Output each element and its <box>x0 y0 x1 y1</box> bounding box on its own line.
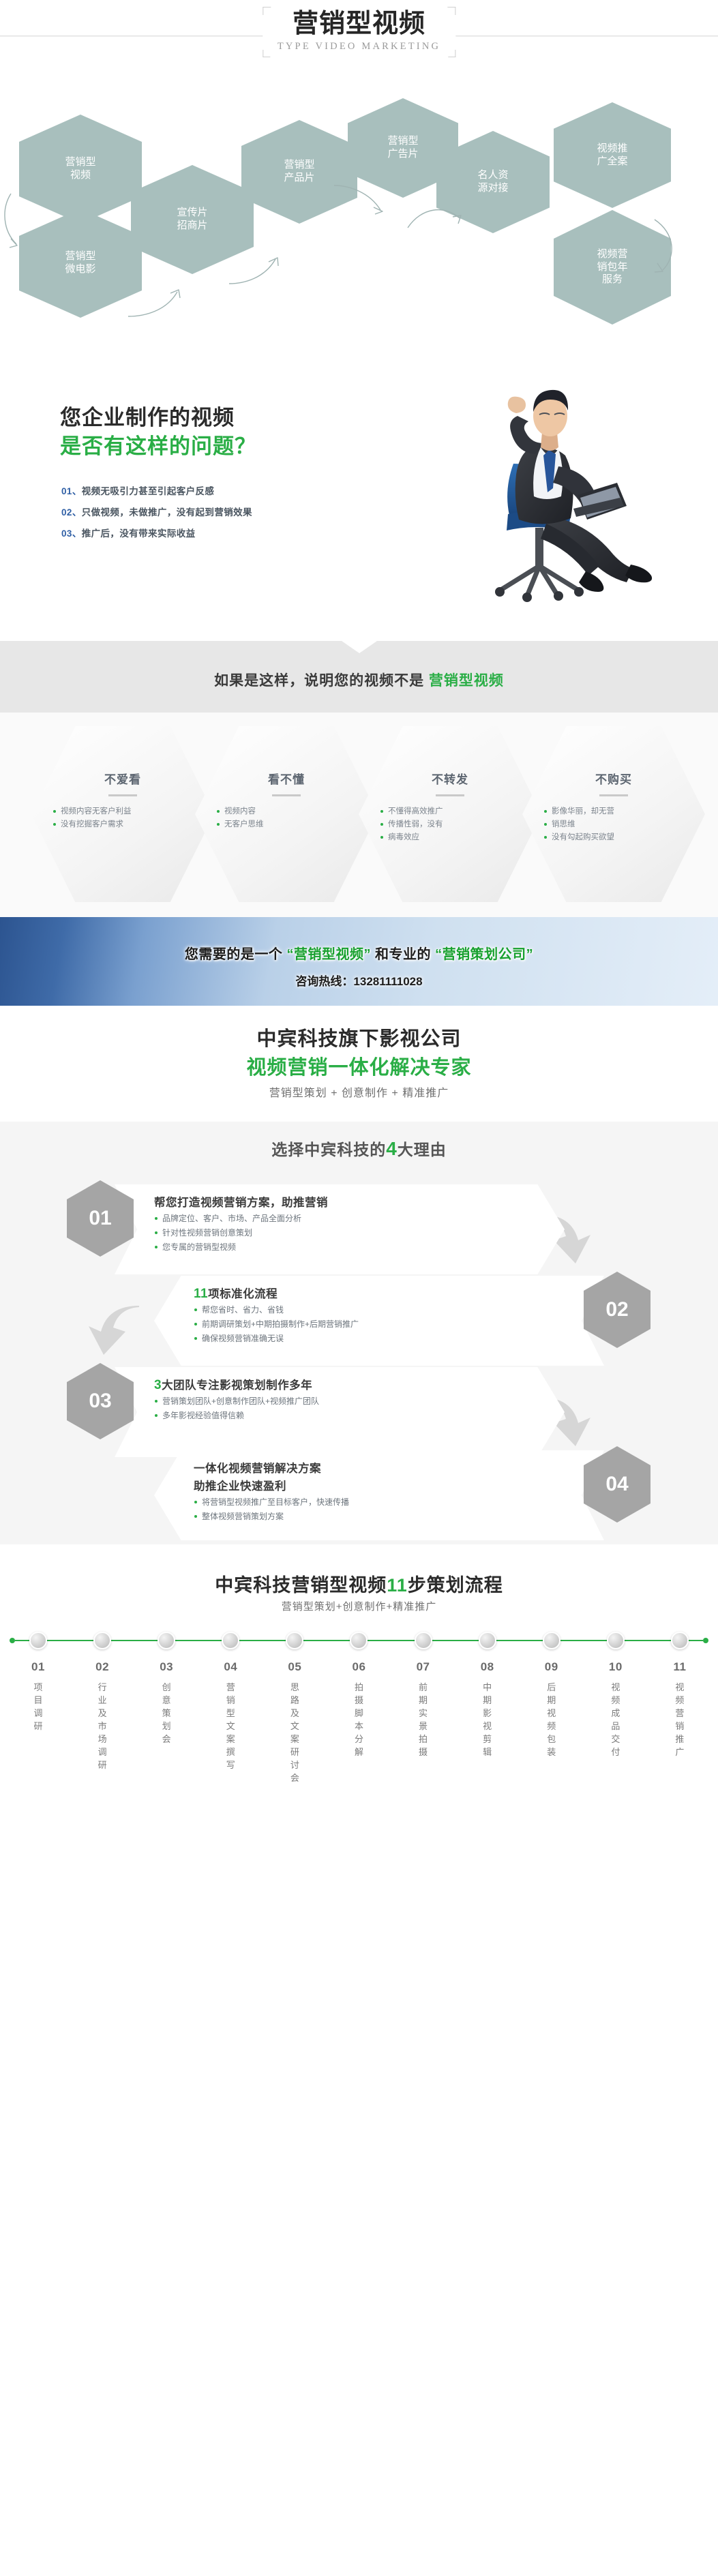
reason-title-03: 3大团队专注影视策划制作多年 <box>154 1377 524 1394</box>
step-label: 视频成品交付 <box>610 1681 620 1758</box>
step-item[interactable]: 03 创意策划会 <box>140 1632 192 1784</box>
problem-card-2[interactable]: 不转发 不懂得高效推广 传播性弱，没有 病毒效应 <box>359 726 541 902</box>
service-hex-label: 营销型 广告片 <box>387 135 418 161</box>
reasons-heading-highlight: 4 <box>386 1138 398 1159</box>
step-number: 04 <box>205 1660 256 1674</box>
reasons-heading: 选择中宾科技的4大理由 <box>0 1137 718 1160</box>
service-hex-label: 视频推 广全案 <box>597 143 627 168</box>
problem-item-number: 02、 <box>61 507 82 518</box>
problem-card-point-cont: 销思维 <box>543 818 685 831</box>
step-number: 11 <box>654 1660 706 1674</box>
reason-flow-arrow-2 <box>86 1304 140 1361</box>
cta-highlight-2: “营销策划公司” <box>435 947 533 962</box>
service-hex-label: 名人资 源对接 <box>477 169 508 195</box>
connector-arrow-5 <box>406 203 465 232</box>
intro-line-2: 视频营销一体化解决专家 <box>0 1053 718 1082</box>
cta-banner: 您需要的是一个 “营销型视频” 和专业的 “营销策划公司” 咨询热线：13281… <box>0 917 718 1006</box>
problem-card-point: 影像华丽，却无营 <box>543 805 685 818</box>
problem-list-item: 02、只做视频，未做推广，没有起到营销效果 <box>61 502 252 523</box>
callout-text-highlight: 营销型视频 <box>429 673 504 689</box>
step-number: 10 <box>590 1660 642 1674</box>
step-label: 拍摄脚本分解 <box>354 1681 364 1758</box>
callout-bar: 如果是这样，说明您的视频不是 营销型视频 <box>0 641 718 713</box>
problem-card-point: 没有勾起购买欲望 <box>543 831 685 844</box>
problem-heading: 您企业制作的视频 是否有这样的问题？ <box>60 404 256 461</box>
problem-card-title: 不购买 <box>595 770 632 787</box>
step-number: 01 <box>12 1660 64 1674</box>
steps-heading-before: 中宾科技营销型视频 <box>215 1575 387 1596</box>
step-dot-icon <box>158 1632 175 1649</box>
step-item[interactable]: 02 行业及市场调研 <box>76 1632 128 1784</box>
problem-heading-line1: 您企业制作的视频 <box>60 404 256 432</box>
problem-card-divider <box>436 794 464 796</box>
problem-card-1[interactable]: 看不懂 视频内容 无客户思维 <box>195 726 378 902</box>
step-dot-icon <box>543 1632 560 1649</box>
callout-notch <box>342 641 377 653</box>
step-number: 07 <box>398 1660 449 1674</box>
step-label: 中期影视剪辑 <box>482 1681 492 1758</box>
reason-point: 多年影视经验值得信赖 <box>154 1409 524 1423</box>
steps-heading-highlight: 11 <box>387 1575 408 1596</box>
service-hex-0[interactable]: 营销型 视频 <box>19 115 142 224</box>
problem-list-item: 01、视频无吸引力甚至引起客户反感 <box>61 481 252 502</box>
cta-part2: 和专业的 <box>371 947 435 962</box>
step-label: 行业及市场调研 <box>98 1681 108 1771</box>
intro-line-1: 中宾科技旗下影视公司 <box>0 1025 718 1053</box>
steps-heading-after: 步策划流程 <box>408 1575 503 1596</box>
callout-text: 如果是这样，说明您的视频不是 营销型视频 <box>0 670 718 690</box>
problem-item-number: 01、 <box>61 486 82 496</box>
step-item[interactable]: 06 拍摄脚本分解 <box>333 1632 385 1784</box>
step-number: 09 <box>526 1660 578 1674</box>
reason-point: 针对性视频营销创意策划 <box>154 1226 524 1240</box>
problem-list: 01、视频无吸引力甚至引起客户反感 02、只做视频，未做推广，没有起到营销效果 … <box>61 481 252 544</box>
connector-arrow-3 <box>228 256 285 286</box>
step-label: 创意策划会 <box>162 1681 172 1746</box>
reason-point: 营销策划团队+创意制作团队+视频推广团队 <box>154 1394 524 1409</box>
reasons-section: 选择中宾科技的4大理由 01 帮您打造视频营销方案，助推营销 品牌定位、客户、市… <box>0 1122 718 1544</box>
problem-card-title: 不转发 <box>432 770 468 787</box>
step-number: 02 <box>76 1660 128 1674</box>
problem-card-point: 传播性弱，没有 <box>379 818 521 831</box>
problem-card-divider <box>272 794 301 796</box>
reason-row-04: 04 一体化视频营销解决方案 助推企业快速盈利 将营销型视频推广至目标客户，快速… <box>0 1441 718 1542</box>
step-label: 营销型文案撰写 <box>226 1681 236 1771</box>
step-label: 后期视频包装 <box>546 1681 556 1758</box>
step-number: 08 <box>462 1660 513 1674</box>
problem-item-text: 视频无吸引力甚至引起客户反感 <box>82 486 215 496</box>
step-dot-icon <box>479 1632 496 1649</box>
page-subtitle: TYPE VIDEO MARKETING <box>278 40 440 53</box>
problem-card-title: 看不懂 <box>268 770 305 787</box>
step-dot-icon <box>671 1632 689 1649</box>
reason-row-01: 01 帮您打造视频营销方案，助推营销 品牌定位、客户、市场、产品全面分析 针对性… <box>0 1175 718 1276</box>
reason-point: 品牌定位、客户、市场、产品全面分析 <box>154 1212 524 1226</box>
cta-hotline[interactable]: 咨询热线：13281111028 <box>0 972 718 989</box>
problem-item-number: 03、 <box>61 528 82 539</box>
problem-card-3[interactable]: 不购买 影像华丽，却无营 销思维 没有勾起购买欲望 <box>522 726 705 902</box>
cta-highlight-1: “营销型视频” <box>286 947 371 962</box>
step-dot-icon <box>415 1632 432 1649</box>
problem-section: 您企业制作的视频 是否有这样的问题？ 01、视频无吸引力甚至引起客户反感 02、… <box>0 375 718 641</box>
businessman-illustration <box>432 382 691 607</box>
cta-headline: 您需要的是一个 “营销型视频” 和专业的 “营销策划公司” <box>0 943 718 963</box>
service-hex-label: 营销型 产品片 <box>284 159 314 185</box>
reason-point: 帮您省时、省力、省钱 <box>194 1303 563 1317</box>
step-item[interactable]: 04 营销型文案撰写 <box>205 1632 256 1784</box>
step-dot-icon <box>286 1632 303 1649</box>
reasons-heading-before: 选择中宾科技的 <box>271 1141 386 1158</box>
service-hex-6[interactable]: 营销型 微电影 <box>19 209 142 318</box>
step-number: 05 <box>269 1660 320 1674</box>
reason-card-04[interactable]: 一体化视频营销解决方案 助推企业快速盈利 将营销型视频推广至目标客户，快速传播 … <box>154 1450 604 1540</box>
reason-title-01: 帮您打造视频营销方案，助推营销 <box>154 1194 524 1212</box>
reason-row-02: 02 11项标准化流程 帮您省时、省力、省钱 前期调研策划+中期拍摄制作+后期营… <box>0 1266 718 1367</box>
step-dot-icon <box>29 1632 47 1649</box>
reason-point: 整体视频营销策划方案 <box>194 1510 563 1524</box>
step-label: 前期实景拍摄 <box>418 1681 428 1758</box>
problem-card-point: 没有挖掘客户需求 <box>52 818 194 831</box>
problem-card-point: 视频内容 <box>215 805 357 818</box>
problem-card-divider <box>108 794 137 796</box>
page-title: 营销型视频 <box>278 8 440 40</box>
reason-title-highlight: 3 <box>154 1378 162 1392</box>
step-dot-icon <box>607 1632 625 1649</box>
steps-heading: 中宾科技营销型视频11步策划流程 <box>0 1570 718 1597</box>
step-item[interactable]: 09 后期视频包装 <box>526 1632 578 1784</box>
steps-section: 中宾科技营销型视频11步策划流程 营销型策划+创意制作+精准推广 01 项目调研… <box>0 1544 718 1817</box>
reason-point: 您专属的营销型视频 <box>154 1240 524 1255</box>
reason-point: 将营销型视频推广至目标客户，快速传播 <box>194 1495 563 1510</box>
service-hex-label: 营销型 微电影 <box>65 250 95 276</box>
problem-card-point: 不懂得高效推广 <box>379 805 521 818</box>
step-item[interactable]: 11 视频营销推广 <box>654 1632 706 1784</box>
connector-arrow-4 <box>333 184 390 214</box>
connector-arrow-6 <box>649 218 680 277</box>
step-label: 思路及文案研讨会 <box>290 1681 300 1784</box>
problem-item-text: 推广后，没有带来实际收益 <box>82 528 196 539</box>
step-item[interactable]: 08 中期影视剪辑 <box>462 1632 513 1784</box>
callout-text-plain: 如果是这样，说明您的视频不是 <box>214 673 429 689</box>
problem-item-text: 只做视频，未做推广，没有起到营销效果 <box>82 507 252 518</box>
service-hex-5[interactable]: 视频推 广全案 <box>554 102 671 208</box>
problem-heading-line2: 是否有这样的问题？ <box>60 432 256 461</box>
reason-title-rest: 大团队专注影视策划制作多年 <box>162 1379 312 1392</box>
page-header: 营销型视频 TYPE VIDEO MARKETING <box>0 0 718 89</box>
service-hex-cloud: 营销型 视频 营销型 微电影 宣传片 招商片 营销型 产品片 营销型 广告片 名… <box>0 89 718 375</box>
reason-card-03[interactable]: 3大团队专注影视策划制作多年 营销策划团队+创意制作团队+视频推广团队 多年影视… <box>115 1367 565 1457</box>
service-hex-label: 宣传片 招商片 <box>177 207 207 233</box>
step-number: 03 <box>140 1660 192 1674</box>
connector-arrow-2 <box>127 286 188 319</box>
cta-part1: 您需要的是一个 <box>185 947 287 962</box>
intro-line-3: 营销型策划 + 创意制作 + 精准推广 <box>0 1082 718 1105</box>
reason-title-02: 11项标准化流程 <box>194 1285 563 1303</box>
reason-title-04: 一体化视频营销解决方案 助推企业快速盈利 <box>194 1460 563 1495</box>
company-intro-section: 中宾科技旗下影视公司 视频营销一体化解决专家 营销型策划 + 创意制作 + 精准… <box>0 1006 718 1122</box>
step-dot-icon <box>350 1632 368 1649</box>
step-item[interactable]: 01 项目调研 <box>12 1632 64 1784</box>
steps-subtitle: 营销型策划+创意制作+精准推广 <box>0 1599 718 1613</box>
service-hex-label: 营销型 视频 <box>65 156 95 182</box>
reason-point: 确保视频营销准确无误 <box>194 1332 563 1346</box>
step-item[interactable]: 07 前期实景拍摄 <box>398 1632 449 1784</box>
problem-card-point: 无客户思维 <box>215 818 357 831</box>
reason-card-01[interactable]: 帮您打造视频营销方案，助推营销 品牌定位、客户、市场、产品全面分析 针对性视频营… <box>115 1184 565 1274</box>
step-dot-icon <box>93 1632 111 1649</box>
landing-page: 营销型视频 TYPE VIDEO MARKETING 营销型 视频 营销型 微电… <box>0 0 718 1817</box>
reason-title-highlight: 11 <box>194 1287 208 1301</box>
connector-arrow-1 <box>1 191 30 252</box>
step-item[interactable]: 10 视频成品交付 <box>590 1632 642 1784</box>
reason-card-02[interactable]: 11项标准化流程 帮您省时、省力、省钱 前期调研策划+中期拍摄制作+后期营销推广… <box>154 1276 604 1366</box>
header-title-frame: 营销型视频 TYPE VIDEO MARKETING <box>263 5 455 57</box>
problem-list-item: 03、推广后，没有带来实际收益 <box>61 523 252 544</box>
service-hex-label: 视频营 销包年 服务 <box>597 248 627 286</box>
problem-cards-section: 不爱看 视频内容无客户利益 没有挖掘客户需求 看不懂 视频内容 无客户思维 不转… <box>0 713 718 917</box>
steps-list: 01 项目调研 02 行业及市场调研 03 创意策划会 04 营销型文案撰写 0… <box>12 1632 706 1784</box>
reason-title-rest: 项标准化流程 <box>208 1288 278 1300</box>
problem-card-point-cont: 病毒效应 <box>379 831 521 844</box>
step-dot-icon <box>222 1632 239 1649</box>
problem-card-title: 不爱看 <box>104 770 141 787</box>
reason-point: 前期调研策划+中期拍摄制作+后期营销推广 <box>194 1317 563 1332</box>
step-number: 06 <box>333 1660 385 1674</box>
reasons-heading-after: 大理由 <box>398 1141 447 1158</box>
step-item[interactable]: 05 思路及文案研讨会 <box>269 1632 320 1784</box>
step-label: 项目调研 <box>33 1681 44 1733</box>
problem-card-0[interactable]: 不爱看 视频内容无客户利益 没有挖掘客户需求 <box>31 726 214 902</box>
step-label: 视频营销推广 <box>674 1681 685 1758</box>
problem-card-point: 视频内容无客户利益 <box>52 805 194 818</box>
problem-card-divider <box>599 794 628 796</box>
